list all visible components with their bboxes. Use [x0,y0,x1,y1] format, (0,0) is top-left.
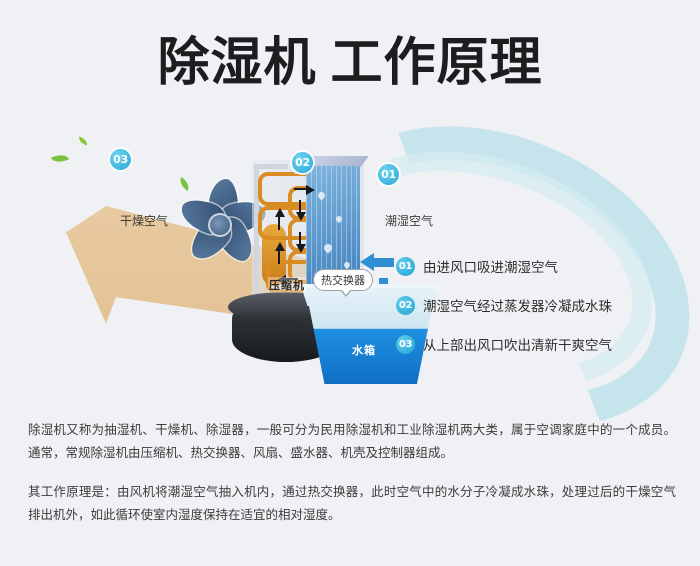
step-badge: 02 [396,296,415,315]
list-item: 02 潮湿空气经过蒸发器冷凝成水珠 [396,295,612,315]
step-badge: 01 [396,257,415,276]
list-item: 01 由进风口吸进潮湿空气 [396,256,612,276]
step-badge: 03 [396,335,415,354]
infographic-page: 除湿机工作原理 [0,0,700,566]
step-text: 潮湿空气经过蒸发器冷凝成水珠 [423,295,612,315]
page-title: 除湿机工作原理 [0,32,700,94]
title-part-2: 工作原理 [331,33,543,93]
intake-arrow-tail [374,258,394,267]
heat-exchanger-callout: 热交换器 [313,269,373,291]
leaf-icon [77,136,88,145]
paragraph-1: 除湿机又称为抽湿机、干燥机、除湿器，一般可分为民用除湿机和工业除湿机两大类，属于… [28,418,676,464]
description-section: 除湿机又称为抽湿机、干燥机、除湿器，一般可分为民用除湿机和工业除湿机两大类，属于… [28,418,676,542]
step-text: 由进风口吸进潮湿空气 [423,256,558,276]
flow-tick [299,200,301,212]
title-part-1: 除湿机 [157,33,316,93]
paragraph-2: 其工作原理是：由风机将潮湿空气抽入机内，通过热交换器，此时空气中的水分子冷凝成水… [28,480,676,526]
list-item: 03 从上部出风口吹出清新干爽空气 [396,334,612,354]
badge-02: 02 [292,152,313,173]
flow-tick [294,188,306,190]
flow-arrow-up-icon [275,208,285,217]
step-text: 从上部出风口吹出清新干爽空气 [423,334,612,354]
flow-tick [299,232,301,244]
humid-air-label: 潮湿空气 [385,212,433,229]
fan-hub [208,213,232,237]
compressor-label: 压缩机 [268,277,306,293]
water-tank-label: 水箱 [352,342,376,358]
leaf-icon [51,151,69,166]
pipe-horizontal [254,164,288,169]
badge-01: 01 [378,164,399,185]
dry-air-label: 干燥空气 [120,212,168,229]
flow-arrow-right-icon [306,185,315,195]
flow-arrow-down-icon [296,212,306,221]
steps-list: 01 由进风口吸进潮湿空气 02 潮湿空气经过蒸发器冷凝成水珠 03 从上部出风… [396,256,612,373]
flow-tick [278,250,280,264]
flow-tick [278,216,280,230]
flow-arrow-down-icon [296,244,306,253]
badge-03: 03 [110,149,131,170]
flow-arrow-up-icon [275,242,285,251]
